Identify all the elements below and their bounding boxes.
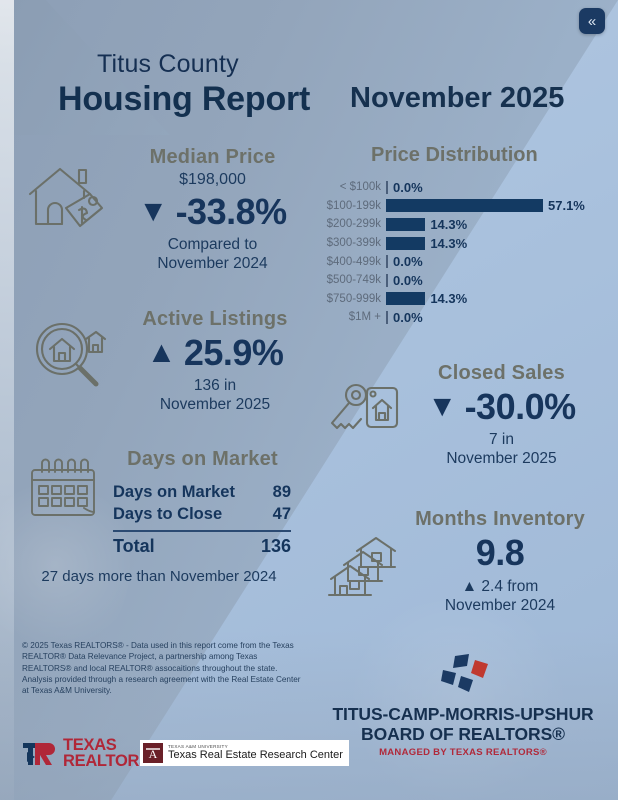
price-distribution-category-label: $750-999k [318, 293, 386, 305]
multiple-houses-icon [326, 534, 404, 604]
price-distribution-row: $1M +0.0% [318, 308, 603, 327]
tamu-center-name: Texas Real Estate Research Center [168, 749, 343, 761]
days-on-market-total-row: Total 136 [113, 536, 291, 557]
price-distribution-category-label: < $100k [318, 181, 386, 193]
price-distribution-bar-wrap: 14.3% [386, 217, 603, 232]
up-arrow-icon: ▲ [462, 578, 477, 595]
chevron-double-left-icon: « [588, 14, 596, 29]
price-distribution-category-label: $300-399k [318, 237, 386, 249]
price-distribution-value-label: 14.3% [425, 236, 467, 251]
closed-sales-stat: Closed Sales ▼ -30.0% 7 in November 2025 [404, 362, 599, 469]
days-on-market-table: Days on Market 89 Days to Close 47 Total… [113, 481, 291, 557]
median-price-note-line2: November 2024 [120, 255, 305, 274]
price-distribution-category-label: $1M + [318, 311, 386, 323]
months-inventory-note-line1: 2.4 from [481, 578, 538, 595]
down-arrow-icon: ▼ [138, 197, 167, 227]
price-distribution-row: $100-199k57.1% [318, 197, 603, 216]
price-distribution-bar [386, 199, 543, 212]
board-name-line1: TITUS-CAMP-MORRIS-UPSHUR [318, 705, 608, 725]
price-distribution-bar [386, 237, 425, 250]
texas-realtors-line2: REALTORS [63, 754, 150, 770]
active-listings-note-line2: November 2025 [120, 396, 310, 415]
price-distribution-bar-wrap: 14.3% [386, 236, 603, 251]
collapse-panel-button[interactable]: « [579, 8, 605, 34]
price-distribution-category-label: $500-749k [318, 274, 386, 286]
active-listings-stat: Active Listings ▲ 25.9% 136 in November … [120, 308, 310, 415]
price-distribution-bar-wrap: 0.0% [386, 273, 603, 288]
copyright-text: © 2025 Texas REALTORS® - Data used in th… [22, 640, 307, 697]
price-distribution-bar [386, 292, 425, 305]
price-distribution-bar-wrap: 57.1% [386, 198, 603, 213]
price-distribution-title: Price Distribution [371, 144, 538, 167]
price-distribution-row: $400-499k0.0% [318, 252, 603, 271]
board-of-realtors-brand: TITUS-CAMP-MORRIS-UPSHUR BOARD OF REALTO… [318, 654, 608, 758]
report-month: November 2025 [350, 82, 564, 115]
board-star-logo-icon [431, 654, 495, 696]
months-inventory-change-row: ▲ 2.4 from [400, 578, 600, 597]
active-listings-change-row: ▲ 25.9% [120, 332, 310, 374]
price-distribution-bar-wrap: 14.3% [386, 291, 603, 306]
texas-am-research-center-logo: A TEXAS A&M UNIVERSITY Texas Real Estate… [140, 740, 349, 766]
texas-am-seal-icon: A [143, 743, 163, 763]
texas-realtors-mark-icon [22, 739, 56, 769]
price-distribution-bar-wrap: 0.0% [386, 254, 603, 269]
table-row: Days on Market 89 [113, 481, 291, 503]
dom-row-label-1: Days to Close [113, 503, 222, 525]
days-on-market-heading: Days on Market [110, 448, 295, 471]
house-keys-icon [328, 382, 404, 446]
closed-sales-change-row: ▼ -30.0% [404, 386, 599, 428]
price-distribution-value-label: 57.1% [543, 198, 585, 213]
price-distribution-category-label: $200-299k [318, 218, 386, 230]
tamu-text-block: TEXAS A&M UNIVERSITY Texas Real Estate R… [168, 744, 343, 761]
days-on-market-note: 27 days more than November 2024 [14, 568, 304, 587]
price-distribution-category-label: $100-199k [318, 200, 386, 212]
price-distribution-row: $200-299k14.3% [318, 215, 603, 234]
up-arrow-icon: ▲ [147, 338, 176, 368]
median-price-value: $198,000 [120, 171, 305, 189]
price-distribution-row: < $100k0.0% [318, 178, 603, 197]
days-on-market-title: Days on Market [110, 448, 295, 471]
price-distribution-category-label: $400-499k [318, 256, 386, 268]
housing-report-infographic: « Titus County Housing Report November 2… [0, 0, 618, 800]
price-distribution-row: $500-749k0.0% [318, 271, 603, 290]
active-listings-note-line1: 136 in [120, 377, 310, 396]
dom-row-label-0: Days on Market [113, 481, 235, 503]
price-distribution-bar-wrap: 0.0% [386, 310, 603, 325]
active-listings-title: Active Listings [120, 308, 310, 331]
price-distribution-value-label: 0.0% [388, 254, 423, 269]
board-managed-by: MANAGED BY TEXAS REALTORS® [318, 747, 608, 758]
texas-realtors-logo: TEXAS REALTORS [22, 738, 150, 769]
price-distribution-bar [386, 218, 425, 231]
calendar-icon [26, 458, 100, 522]
price-distribution-bar-wrap: 0.0% [386, 180, 603, 195]
price-distribution-value-label: 0.0% [388, 273, 423, 288]
table-divider [113, 530, 291, 532]
page-subtitle-county: Titus County [97, 50, 239, 79]
active-listings-change: 25.9% [184, 332, 284, 374]
months-inventory-stat: Months Inventory 9.8 ▲ 2.4 from November… [400, 508, 600, 616]
dom-row-value-1: 47 [273, 503, 291, 525]
table-row: Days to Close 47 [113, 503, 291, 525]
texas-realtors-wordmark: TEXAS REALTORS [63, 738, 150, 769]
median-price-title: Median Price [120, 146, 305, 169]
closed-sales-note-line2: November 2025 [404, 450, 599, 469]
median-price-change: -33.8% [176, 191, 287, 233]
magnifying-glass-house-icon [26, 318, 110, 390]
price-distribution-chart: < $100k0.0%$100-199k57.1%$200-299k14.3%$… [318, 178, 603, 327]
house-price-tag-icon [22, 158, 108, 234]
down-arrow-icon: ▼ [427, 392, 456, 422]
months-inventory-note-line2: November 2024 [400, 597, 600, 616]
months-inventory-value: 9.8 [400, 532, 600, 574]
price-distribution-value-label: 14.3% [425, 217, 467, 232]
price-distribution-value-label: 14.3% [425, 291, 467, 306]
board-name-line2: BOARD OF REALTORS® [318, 725, 608, 745]
closed-sales-title: Closed Sales [404, 362, 599, 385]
dom-total-value: 136 [261, 536, 291, 557]
median-price-change-row: ▼ -33.8% [120, 191, 305, 233]
closed-sales-note-line1: 7 in [404, 431, 599, 450]
months-inventory-title: Months Inventory [400, 508, 600, 531]
closed-sales-change: -30.0% [465, 386, 576, 428]
dom-row-value-0: 89 [273, 481, 291, 503]
price-distribution-value-label: 0.0% [388, 180, 423, 195]
price-distribution-row: $750-999k14.3% [318, 290, 603, 309]
page-title: Housing Report [58, 80, 310, 119]
dom-total-label: Total [113, 536, 155, 557]
price-distribution-row: $300-399k14.3% [318, 234, 603, 253]
median-price-stat: Median Price $198,000 ▼ -33.8% Compared … [120, 146, 305, 274]
median-price-note-line1: Compared to [120, 236, 305, 255]
price-distribution-value-label: 0.0% [388, 310, 423, 325]
